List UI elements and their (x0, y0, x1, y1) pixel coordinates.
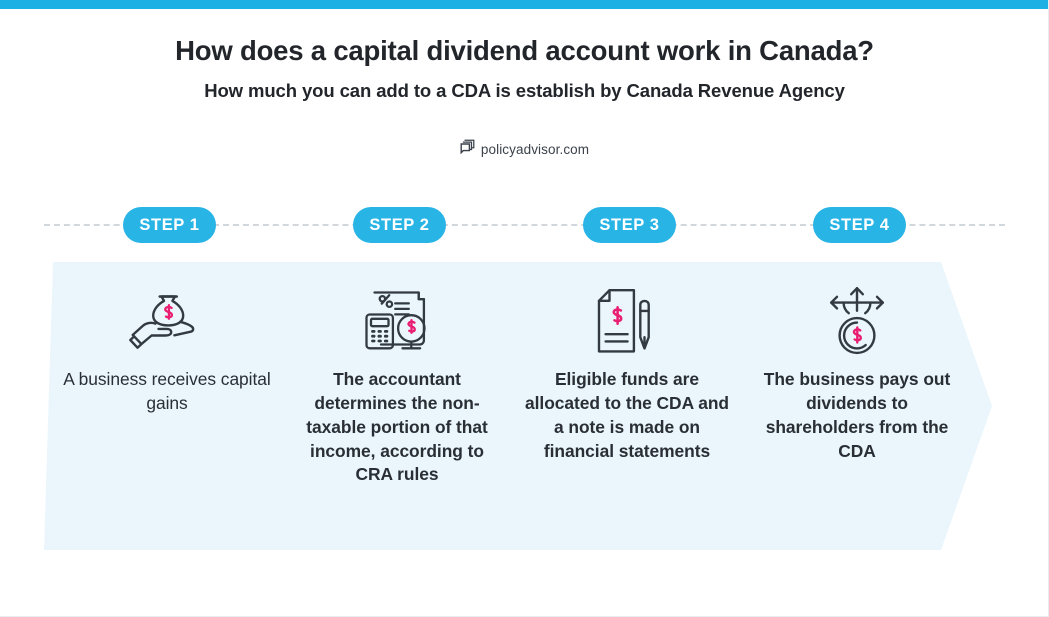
step-text-3: Eligible funds are allocated to the CDA … (522, 368, 732, 463)
step-rail: STEP 1 STEP 2 STEP 3 STEP 4 (0, 207, 1049, 243)
step-text-2: The accountant determines the non-taxabl… (292, 368, 502, 487)
stacked-squares-logo-icon (460, 139, 475, 159)
step-panel-2[interactable]: The accountant determines the non-taxabl… (274, 262, 520, 550)
step-panels: A business receives capital gains (0, 262, 1049, 550)
hand-holding-money-bag-icon (128, 285, 206, 357)
step-badge-4[interactable]: STEP 4 (813, 207, 906, 243)
page-title: How does a capital dividend account work… (0, 34, 1049, 67)
tax-document-calculator-coin-icon (361, 285, 433, 357)
infographic-canvas: How does a capital dividend account work… (0, 0, 1049, 617)
step-panel-4[interactable]: The business pays out dividends to share… (734, 262, 992, 550)
page-subtitle: How much you can add to a CDA is establi… (0, 80, 1049, 102)
step-badge-2[interactable]: STEP 2 (353, 207, 446, 243)
step-text-1: A business receives capital gains (62, 368, 272, 416)
step-text-4: The business pays out dividends to share… (752, 368, 962, 463)
brand-name: policyadvisor.com (481, 142, 589, 157)
brand: policyadvisor.com (0, 139, 1049, 159)
coin-distribution-arrows-icon (826, 285, 888, 357)
step-panel-3[interactable]: Eligible funds are allocated to the CDA … (504, 262, 750, 550)
step-badge-1[interactable]: STEP 1 (123, 207, 216, 243)
step-panel-1[interactable]: A business receives capital gains (44, 262, 290, 550)
step-badge-3[interactable]: STEP 3 (583, 207, 676, 243)
top-accent-bar (0, 0, 1049, 9)
header: How does a capital dividend account work… (0, 34, 1049, 102)
document-dollar-pen-icon (596, 285, 658, 357)
